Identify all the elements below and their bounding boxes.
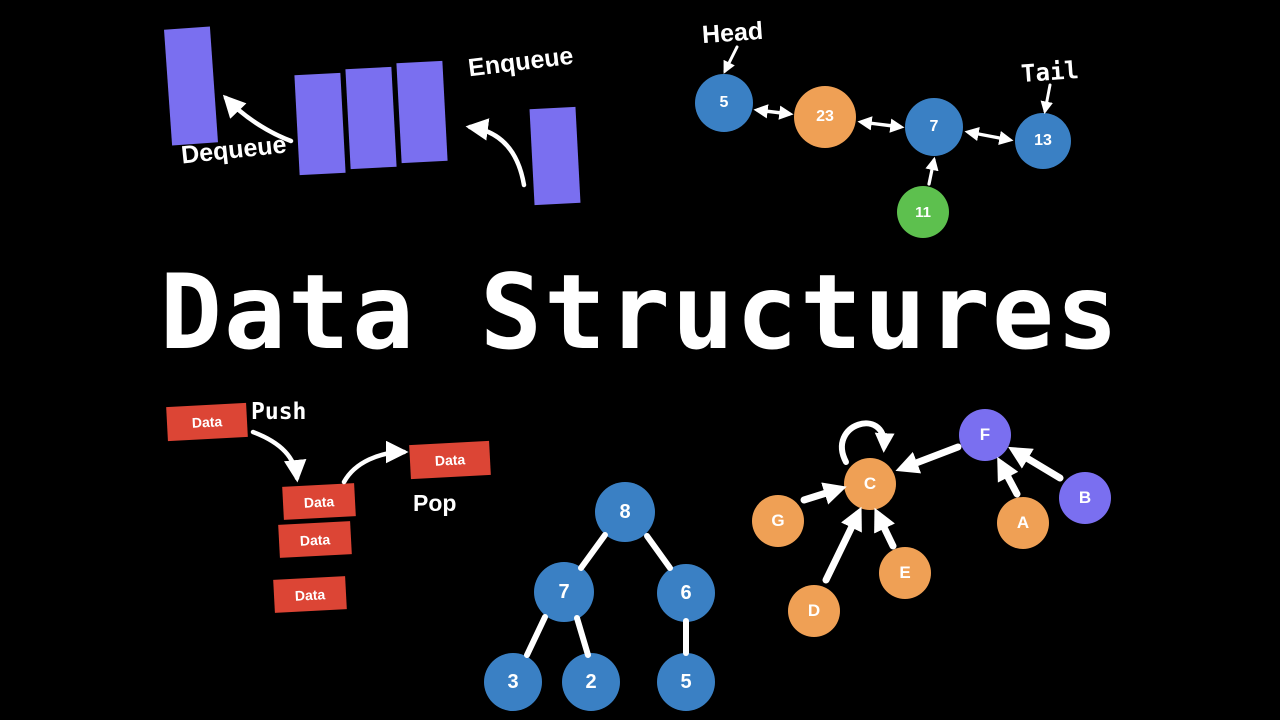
graph-node-c: C [844, 458, 896, 510]
queue-block-2 [345, 67, 396, 169]
tree-edge-7-2 [577, 618, 588, 655]
node-value: G [771, 511, 784, 531]
linked-list-link-5-23 [757, 110, 790, 114]
tree-node-5: 5 [657, 653, 715, 711]
stack-push-label: Push [251, 399, 306, 425]
node-value: 5 [720, 94, 729, 112]
page-title: Data Structures [0, 258, 1280, 369]
queue-block-3 [396, 61, 447, 163]
stack-item-top: Data [282, 483, 356, 520]
queue-enqueue-label: Enqueue [467, 42, 575, 84]
stack-pop-item: Data [409, 441, 491, 479]
queue-enqueue-block [530, 107, 581, 205]
stack-push-arrow [253, 432, 297, 478]
graph-node-b: B [1059, 472, 1111, 524]
stack-pop-arrow [344, 452, 404, 482]
linked-list-node-7: 7 [905, 98, 963, 156]
tree-edge-8-6 [647, 536, 670, 568]
graph-edge-d-c [826, 514, 858, 580]
linked-list-link-7-13 [968, 132, 1010, 140]
stack-item-label: Data [294, 586, 325, 604]
node-value: 2 [585, 671, 596, 694]
graph-node-e: E [879, 547, 931, 599]
graph-edge-f-c [903, 447, 958, 468]
graph-edge-g-c [804, 489, 839, 500]
data-structures-poster: Enqueue Dequeue 5 23 7 13 11 Head Tail D… [0, 0, 1280, 720]
linked-list-link-23-7 [861, 122, 901, 127]
node-value: 13 [1034, 132, 1052, 150]
stack-item-bottom: Data [273, 576, 347, 613]
linked-list-head-arrow [725, 47, 737, 71]
linked-list-tail-arrow [1045, 85, 1050, 111]
graph-node-f: F [959, 409, 1011, 461]
linked-list-node-5: 5 [695, 74, 753, 132]
node-value: 7 [930, 118, 939, 136]
node-value: B [1079, 488, 1091, 508]
graph-node-a: A [997, 497, 1049, 549]
graph-edge-e-c [878, 515, 893, 546]
node-value: 3 [507, 671, 518, 694]
tree-node-2: 2 [562, 653, 620, 711]
graph-node-d: D [788, 585, 840, 637]
tree-node-8: 8 [595, 482, 655, 542]
stack-item-label: Data [434, 451, 465, 469]
node-value: A [1017, 513, 1029, 533]
queue-enqueue-arrow [470, 127, 524, 185]
node-value: C [864, 474, 876, 494]
linked-list-head-label: Head [701, 17, 764, 50]
linked-list-node-13: 13 [1015, 113, 1071, 169]
stack-item-label: Data [303, 493, 334, 511]
stack-item-label: Data [299, 531, 330, 549]
linked-list-tail-label: Tail [1020, 56, 1080, 88]
node-value: 7 [558, 581, 569, 604]
node-value: 23 [816, 108, 834, 126]
graph-edge-a-f [1001, 464, 1017, 494]
linked-list-node-11: 11 [897, 186, 949, 238]
stack-item-middle: Data [278, 521, 352, 558]
graph-edge-c-self-loop [842, 423, 884, 462]
linked-list-link-11-7 [929, 160, 934, 184]
stack-push-item: Data [166, 403, 248, 441]
tree-node-6: 6 [657, 564, 715, 622]
stack-item-label: Data [191, 413, 222, 431]
node-value: F [980, 425, 990, 445]
tree-node-3: 3 [484, 653, 542, 711]
graph-edge-b-f [1015, 451, 1060, 478]
node-value: 5 [680, 671, 691, 694]
queue-block-1 [294, 73, 345, 175]
node-value: E [899, 563, 910, 583]
node-value: 8 [619, 501, 630, 524]
node-value: 11 [915, 204, 931, 221]
linked-list-node-23: 23 [794, 86, 856, 148]
node-value: 6 [680, 582, 691, 605]
tree-edge-7-3 [527, 617, 545, 655]
stack-pop-label: Pop [413, 490, 456, 517]
tree-edge-8-7 [581, 535, 605, 568]
queue-dequeued-block [164, 27, 218, 146]
node-value: D [808, 601, 820, 621]
tree-node-7: 7 [534, 562, 594, 622]
graph-node-g: G [752, 495, 804, 547]
